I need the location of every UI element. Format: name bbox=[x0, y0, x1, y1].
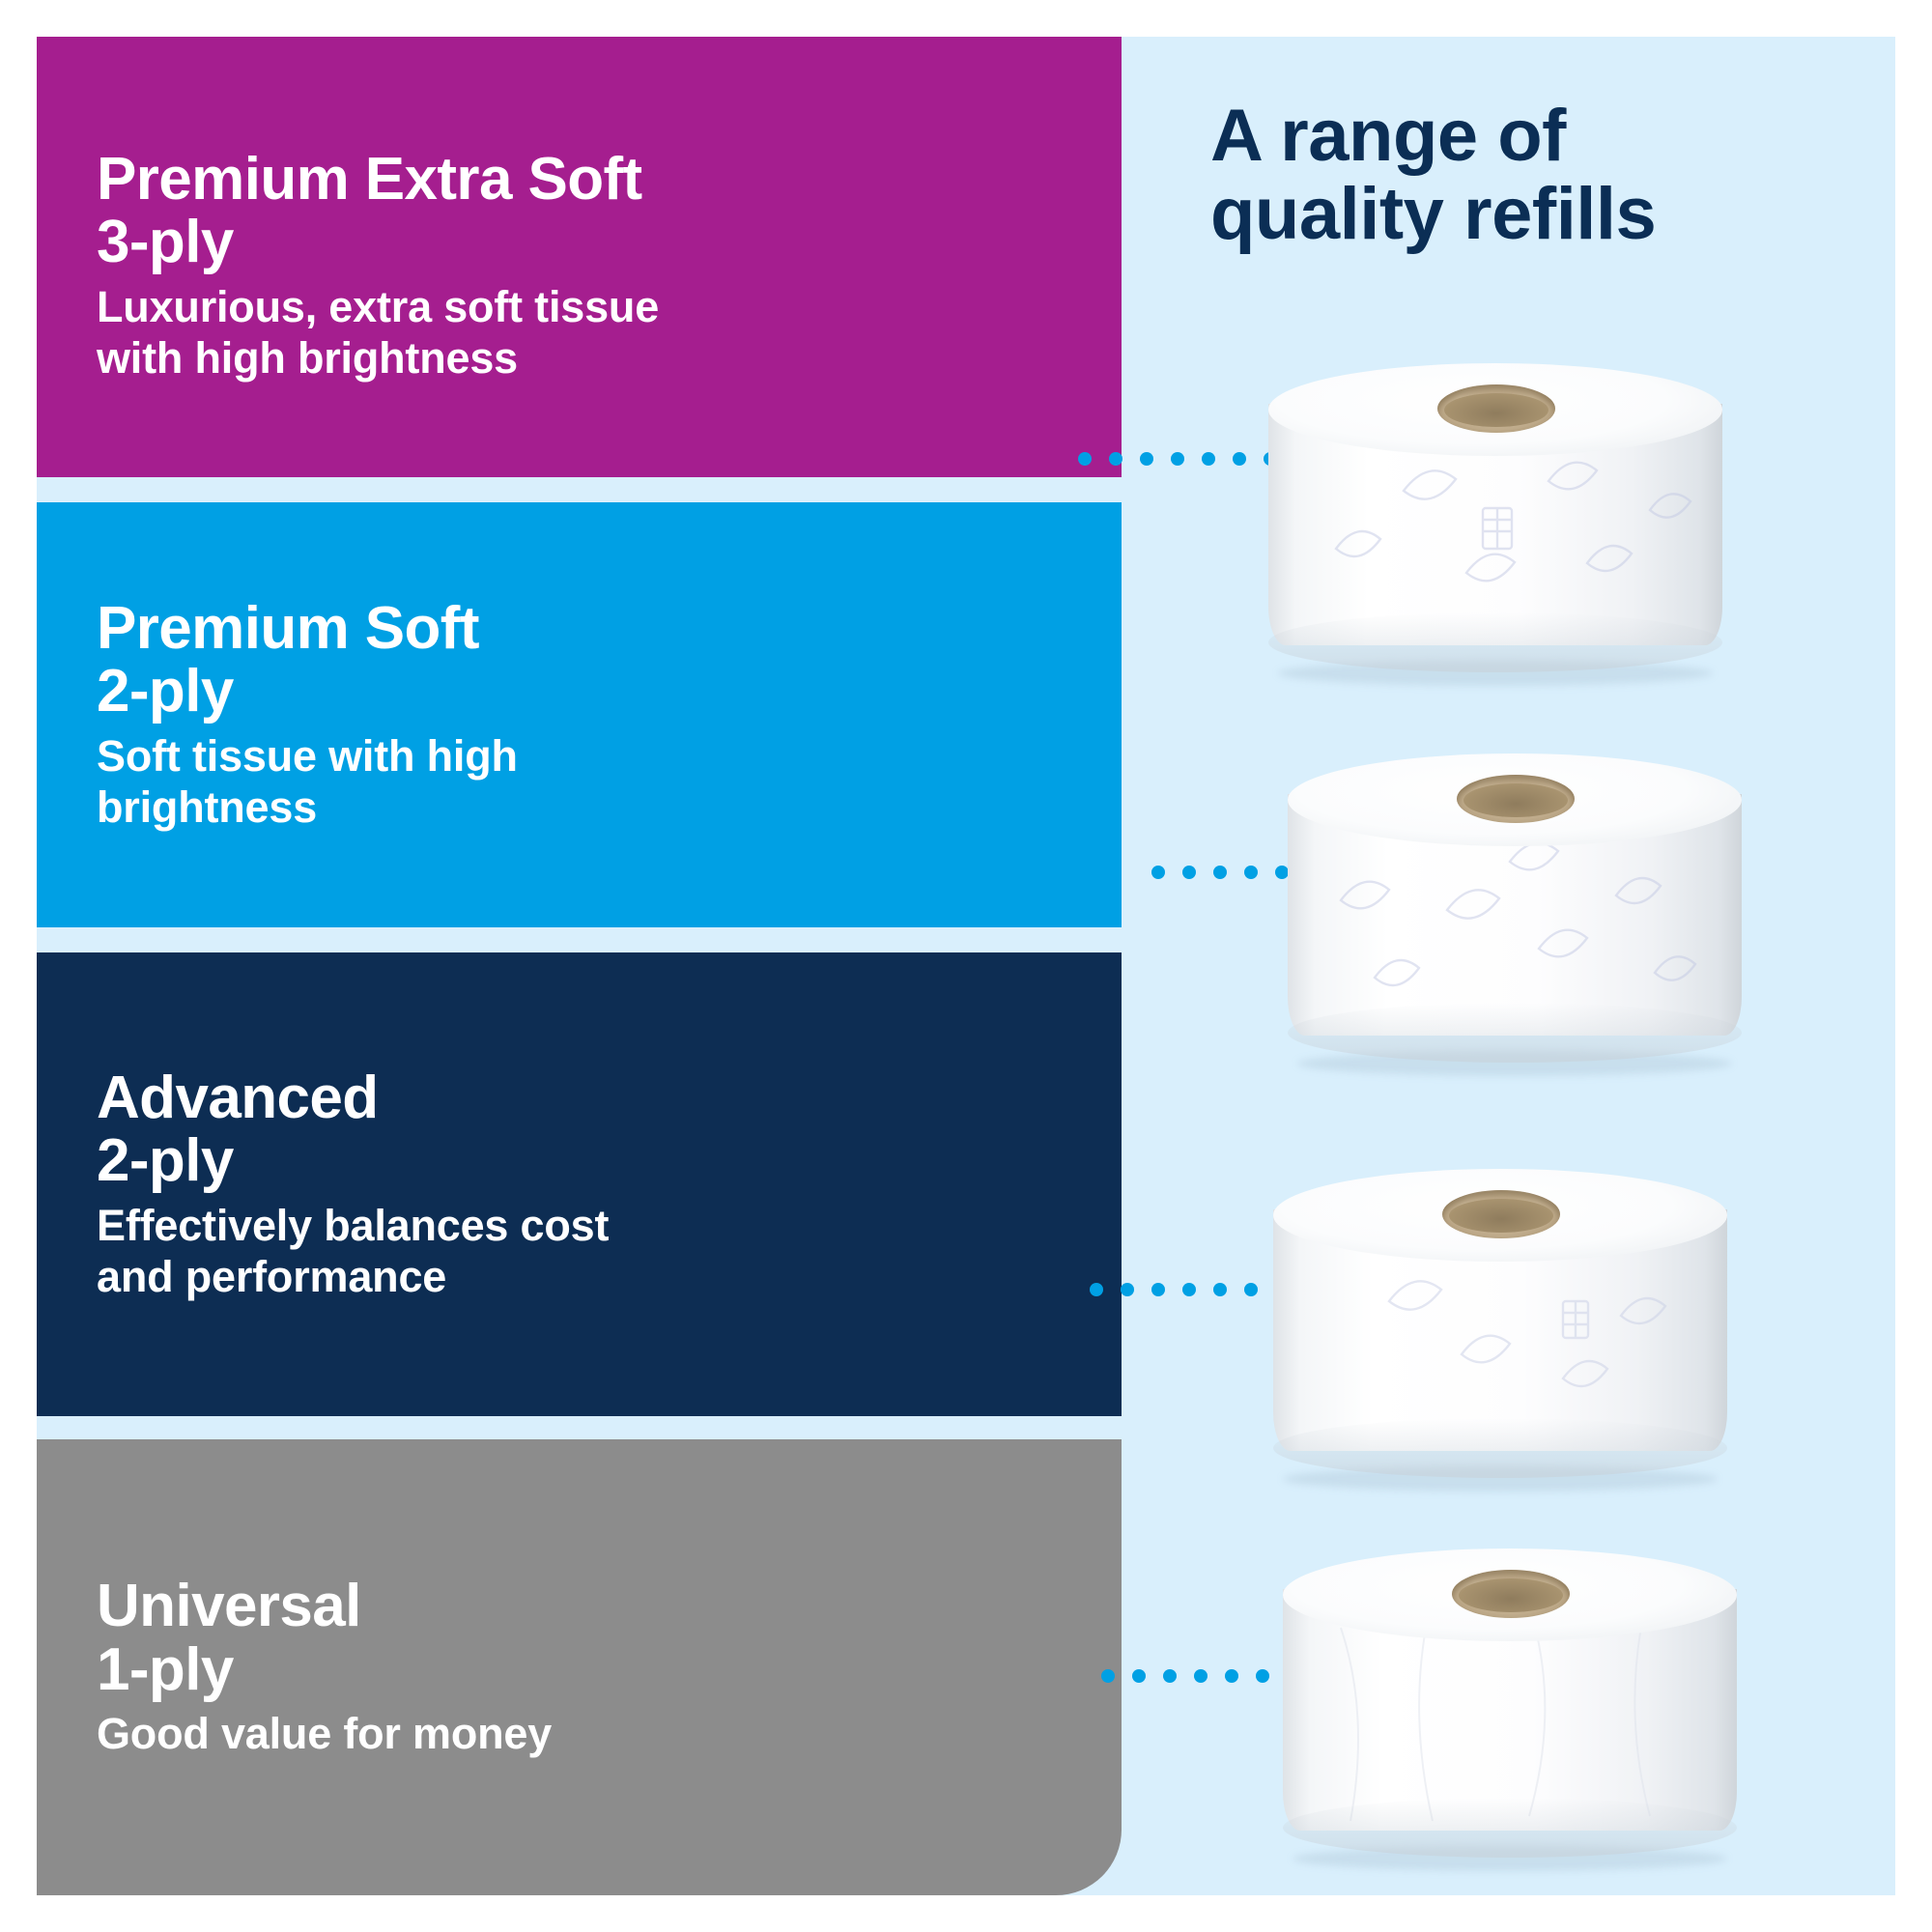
panel-title: Premium Soft 2-ply bbox=[97, 597, 1122, 724]
roll-advanced bbox=[1273, 1169, 1727, 1478]
panel-title-line-1: Premium Soft bbox=[97, 597, 1122, 661]
panel-title-line-2: 2-ply bbox=[97, 660, 1122, 724]
roll-bottom-shade bbox=[1288, 1003, 1742, 1063]
page-title-line-1: A range of bbox=[1210, 97, 1887, 175]
panel-title-line-1: Universal bbox=[97, 1575, 1122, 1638]
panel-universal: Universal 1-ply Good value for money bbox=[37, 1439, 1122, 1895]
panel-description-line-2: with high brightness bbox=[97, 333, 1122, 384]
connector-dots-advanced bbox=[1090, 1283, 1289, 1296]
panel-description: Good value for money bbox=[97, 1709, 1122, 1760]
roll-bottom-shade bbox=[1283, 1798, 1737, 1858]
panel-description-line-1: Good value for money bbox=[97, 1709, 1122, 1760]
panel-description-line-2: and performance bbox=[97, 1252, 1122, 1303]
panel-premium-extra-soft: Premium Extra Soft 3-ply Luxurious, extr… bbox=[37, 37, 1122, 477]
roll-core bbox=[1437, 384, 1555, 433]
connector-dots-premium-extra-soft bbox=[1078, 452, 1277, 466]
roll-core bbox=[1457, 775, 1575, 823]
panel-title-line-2: 1-ply bbox=[97, 1638, 1122, 1702]
panel-title-line-2: 2-ply bbox=[97, 1129, 1122, 1193]
panel-description: Soft tissue with high brightness bbox=[97, 731, 1122, 833]
roll-premium-extra-soft bbox=[1268, 363, 1722, 672]
roll-premium-soft bbox=[1288, 753, 1742, 1063]
panel-premium-soft: Premium Soft 2-ply Soft tissue with high… bbox=[37, 502, 1122, 927]
page-title: A range of quality refills bbox=[1210, 97, 1887, 254]
roll-bottom-shade bbox=[1273, 1418, 1727, 1478]
panel-title-line-2: 3-ply bbox=[97, 211, 1122, 274]
page-title-line-2: quality refills bbox=[1210, 175, 1887, 253]
panel-advanced: Advanced 2-ply Effectively balances cost… bbox=[37, 952, 1122, 1416]
panel-title-line-1: Premium Extra Soft bbox=[97, 148, 1122, 212]
panel-description: Effectively balances cost and performanc… bbox=[97, 1201, 1122, 1302]
panel-title: Advanced 2-ply bbox=[97, 1066, 1122, 1193]
panel-description-line-2: brightness bbox=[97, 782, 1122, 834]
panel-description-line-1: Soft tissue with high bbox=[97, 731, 1122, 782]
panel-description: Luxurious, extra soft tissue with high b… bbox=[97, 282, 1122, 384]
connector-dots-universal bbox=[1101, 1669, 1300, 1683]
panel-title-line-1: Advanced bbox=[97, 1066, 1122, 1130]
panel-description-line-1: Luxurious, extra soft tissue bbox=[97, 282, 1122, 333]
panel-description-line-1: Effectively balances cost bbox=[97, 1201, 1122, 1252]
panel-title: Universal 1-ply bbox=[97, 1575, 1122, 1701]
poster-stage: A range of quality refills Premium Extra… bbox=[0, 0, 1932, 1932]
roll-core bbox=[1442, 1190, 1560, 1238]
roll-bottom-shade bbox=[1268, 612, 1722, 672]
panel-title: Premium Extra Soft 3-ply bbox=[97, 148, 1122, 274]
poster-canvas: A range of quality refills Premium Extra… bbox=[37, 37, 1895, 1895]
roll-universal bbox=[1283, 1548, 1737, 1858]
roll-core bbox=[1452, 1570, 1570, 1618]
